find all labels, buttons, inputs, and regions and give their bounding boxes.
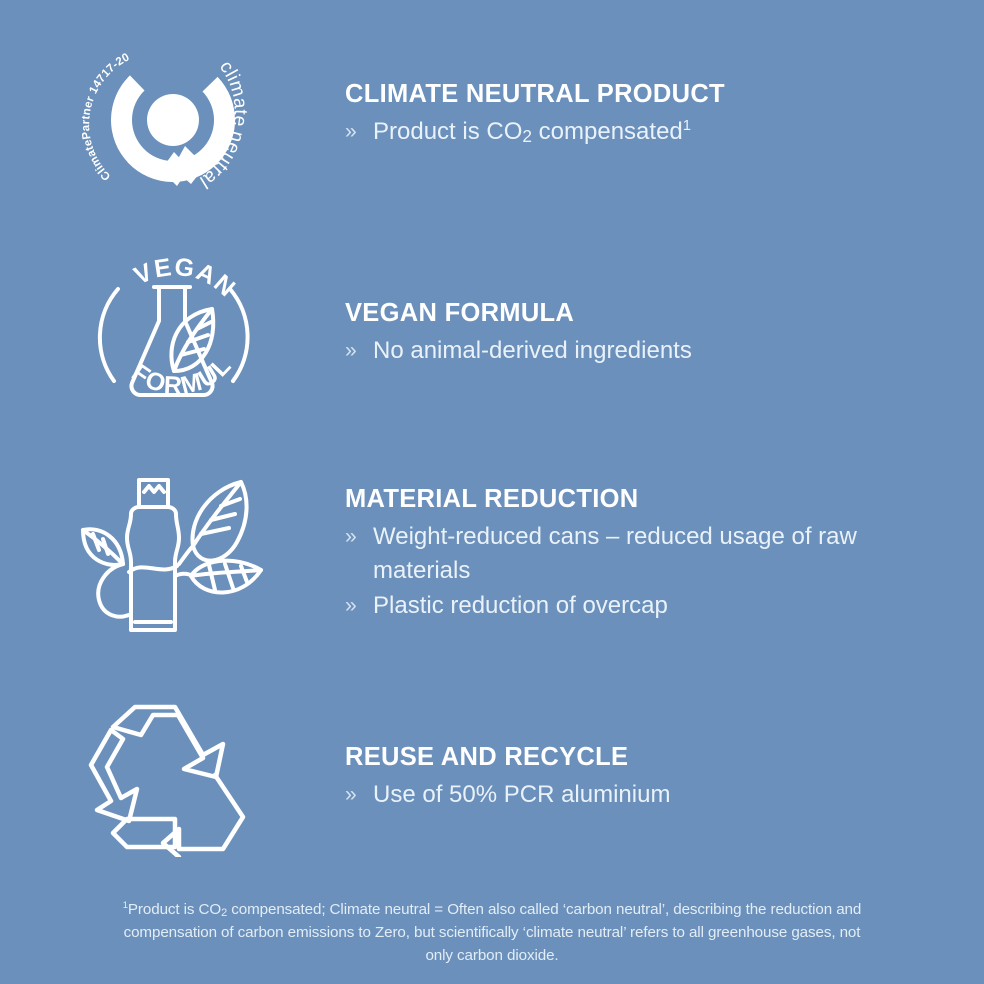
text-cell-reuse-recycle: REUSE AND RECYCLE » Use of 50% PCR alumi…	[345, 697, 984, 812]
footnote-marker: 1	[683, 118, 691, 134]
footnote-text: 1Product is CO2 compensated; Climate neu…	[0, 898, 984, 967]
recycling-loop-icon	[83, 697, 263, 857]
icon-cell-reuse-recycle	[0, 697, 345, 857]
bullet-marker-icon: »	[345, 115, 373, 149]
bullet-list-material-reduction: » Weight-reduced cans – reduced usage of…	[345, 520, 944, 624]
icon-cell-material-reduction	[0, 472, 345, 647]
bullet-item: » Product is CO2 compensated1	[345, 115, 944, 150]
sustainability-infographic: ClimatePartner 14717-2005-1001 climate n…	[0, 0, 984, 984]
bullet-item: » Use of 50% PCR aluminium	[345, 778, 944, 813]
bullet-item: » Plastic reduction of overcap	[345, 589, 944, 624]
icon-cell-vegan-formula: VEGAN FORMULA	[0, 243, 345, 428]
co2-subscript: 2	[522, 126, 532, 146]
text-cell-climate-neutral: CLIMATE NEUTRAL PRODUCT » Product is CO2…	[345, 28, 984, 149]
heading-material-reduction: MATERIAL REDUCTION	[345, 485, 944, 514]
bullet-marker-icon: »	[345, 520, 373, 554]
bullet-list-climate-neutral: » Product is CO2 compensated1	[345, 115, 944, 150]
bullet-marker-icon: »	[345, 589, 373, 623]
co2-subscript: 2	[221, 907, 227, 919]
bullet-text: Weight-reduced cans – reduced usage of r…	[373, 520, 944, 590]
bullet-text: No animal-derived ingredients	[373, 334, 944, 369]
feature-row-reuse-recycle: REUSE AND RECYCLE » Use of 50% PCR alumi…	[0, 697, 984, 857]
feature-row-climate-neutral: ClimatePartner 14717-2005-1001 climate n…	[0, 28, 984, 213]
vegan-formula-flask-icon: VEGAN FORMULA	[80, 243, 265, 428]
feature-row-material-reduction: MATERIAL REDUCTION » Weight-reduced cans…	[0, 472, 984, 647]
bullet-item: » No animal-derived ingredients	[345, 334, 944, 369]
heading-reuse-recycle: REUSE AND RECYCLE	[345, 743, 944, 772]
bullet-item: » Weight-reduced cans – reduced usage of…	[345, 520, 944, 590]
bullet-text: Use of 50% PCR aluminium	[373, 778, 944, 813]
text-cell-material-reduction: MATERIAL REDUCTION » Weight-reduced cans…	[345, 472, 984, 624]
heading-climate-neutral: CLIMATE NEUTRAL PRODUCT	[345, 80, 944, 109]
bullet-text: Product is CO2 compensated1	[373, 115, 944, 150]
feature-row-vegan-formula: VEGAN FORMULA VEGAN FORMULA » No animal-…	[0, 243, 984, 428]
bullet-marker-icon: »	[345, 334, 373, 368]
bullet-list-vegan-formula: » No animal-derived ingredients	[345, 334, 944, 369]
bullet-text: Plastic reduction of overcap	[373, 589, 944, 624]
climate-neutral-certification-icon: ClimatePartner 14717-2005-1001 climate n…	[73, 28, 273, 213]
footnote-part1: Product is CO	[128, 901, 221, 918]
text-cell-vegan-formula: VEGAN FORMULA » No animal-derived ingred…	[345, 243, 984, 368]
icon-cell-climate-neutral: ClimatePartner 14717-2005-1001 climate n…	[0, 28, 345, 213]
bullet-text-suffix: compensated	[532, 118, 683, 145]
aerosol-can-with-leaves-icon	[65, 472, 280, 647]
bullet-list-reuse-recycle: » Use of 50% PCR aluminium	[345, 778, 944, 813]
footnote-part2: compensated; Climate neutral = Often als…	[124, 901, 862, 964]
bullet-marker-icon: »	[345, 778, 373, 812]
heading-vegan-formula: VEGAN FORMULA	[345, 299, 944, 328]
bullet-text-prefix: Product is CO	[373, 118, 522, 145]
